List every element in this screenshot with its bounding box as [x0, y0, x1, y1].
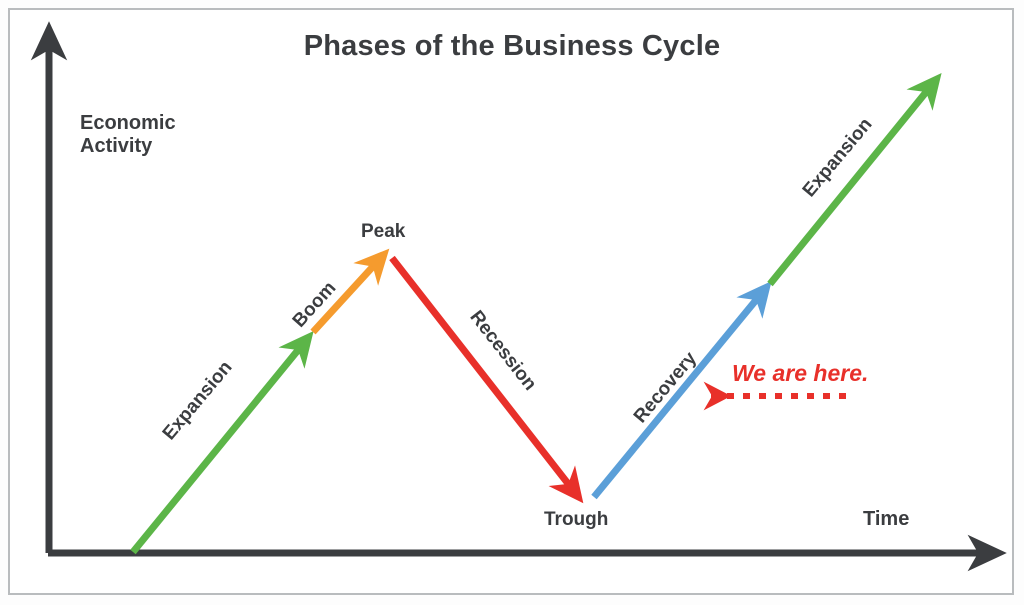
recovery-arrow [594, 294, 761, 497]
we-are-here-annotation: We are here. [732, 360, 868, 387]
y-axis-label: Economic Activity [80, 112, 176, 158]
x-axis-label: Time [863, 508, 909, 531]
business-cycle-diagram: Phases of the Business Cycle Economic Ac… [0, 0, 1024, 605]
expansion-arrow-2 [770, 86, 931, 284]
page-title: Phases of the Business Cycle [0, 30, 1024, 63]
recession-arrow [392, 258, 573, 490]
trough-label: Trough [544, 509, 608, 531]
y-axis-label-line1: Economic [80, 112, 176, 134]
y-axis-label-line2: Activity [80, 135, 152, 157]
peak-label: Peak [361, 221, 405, 243]
